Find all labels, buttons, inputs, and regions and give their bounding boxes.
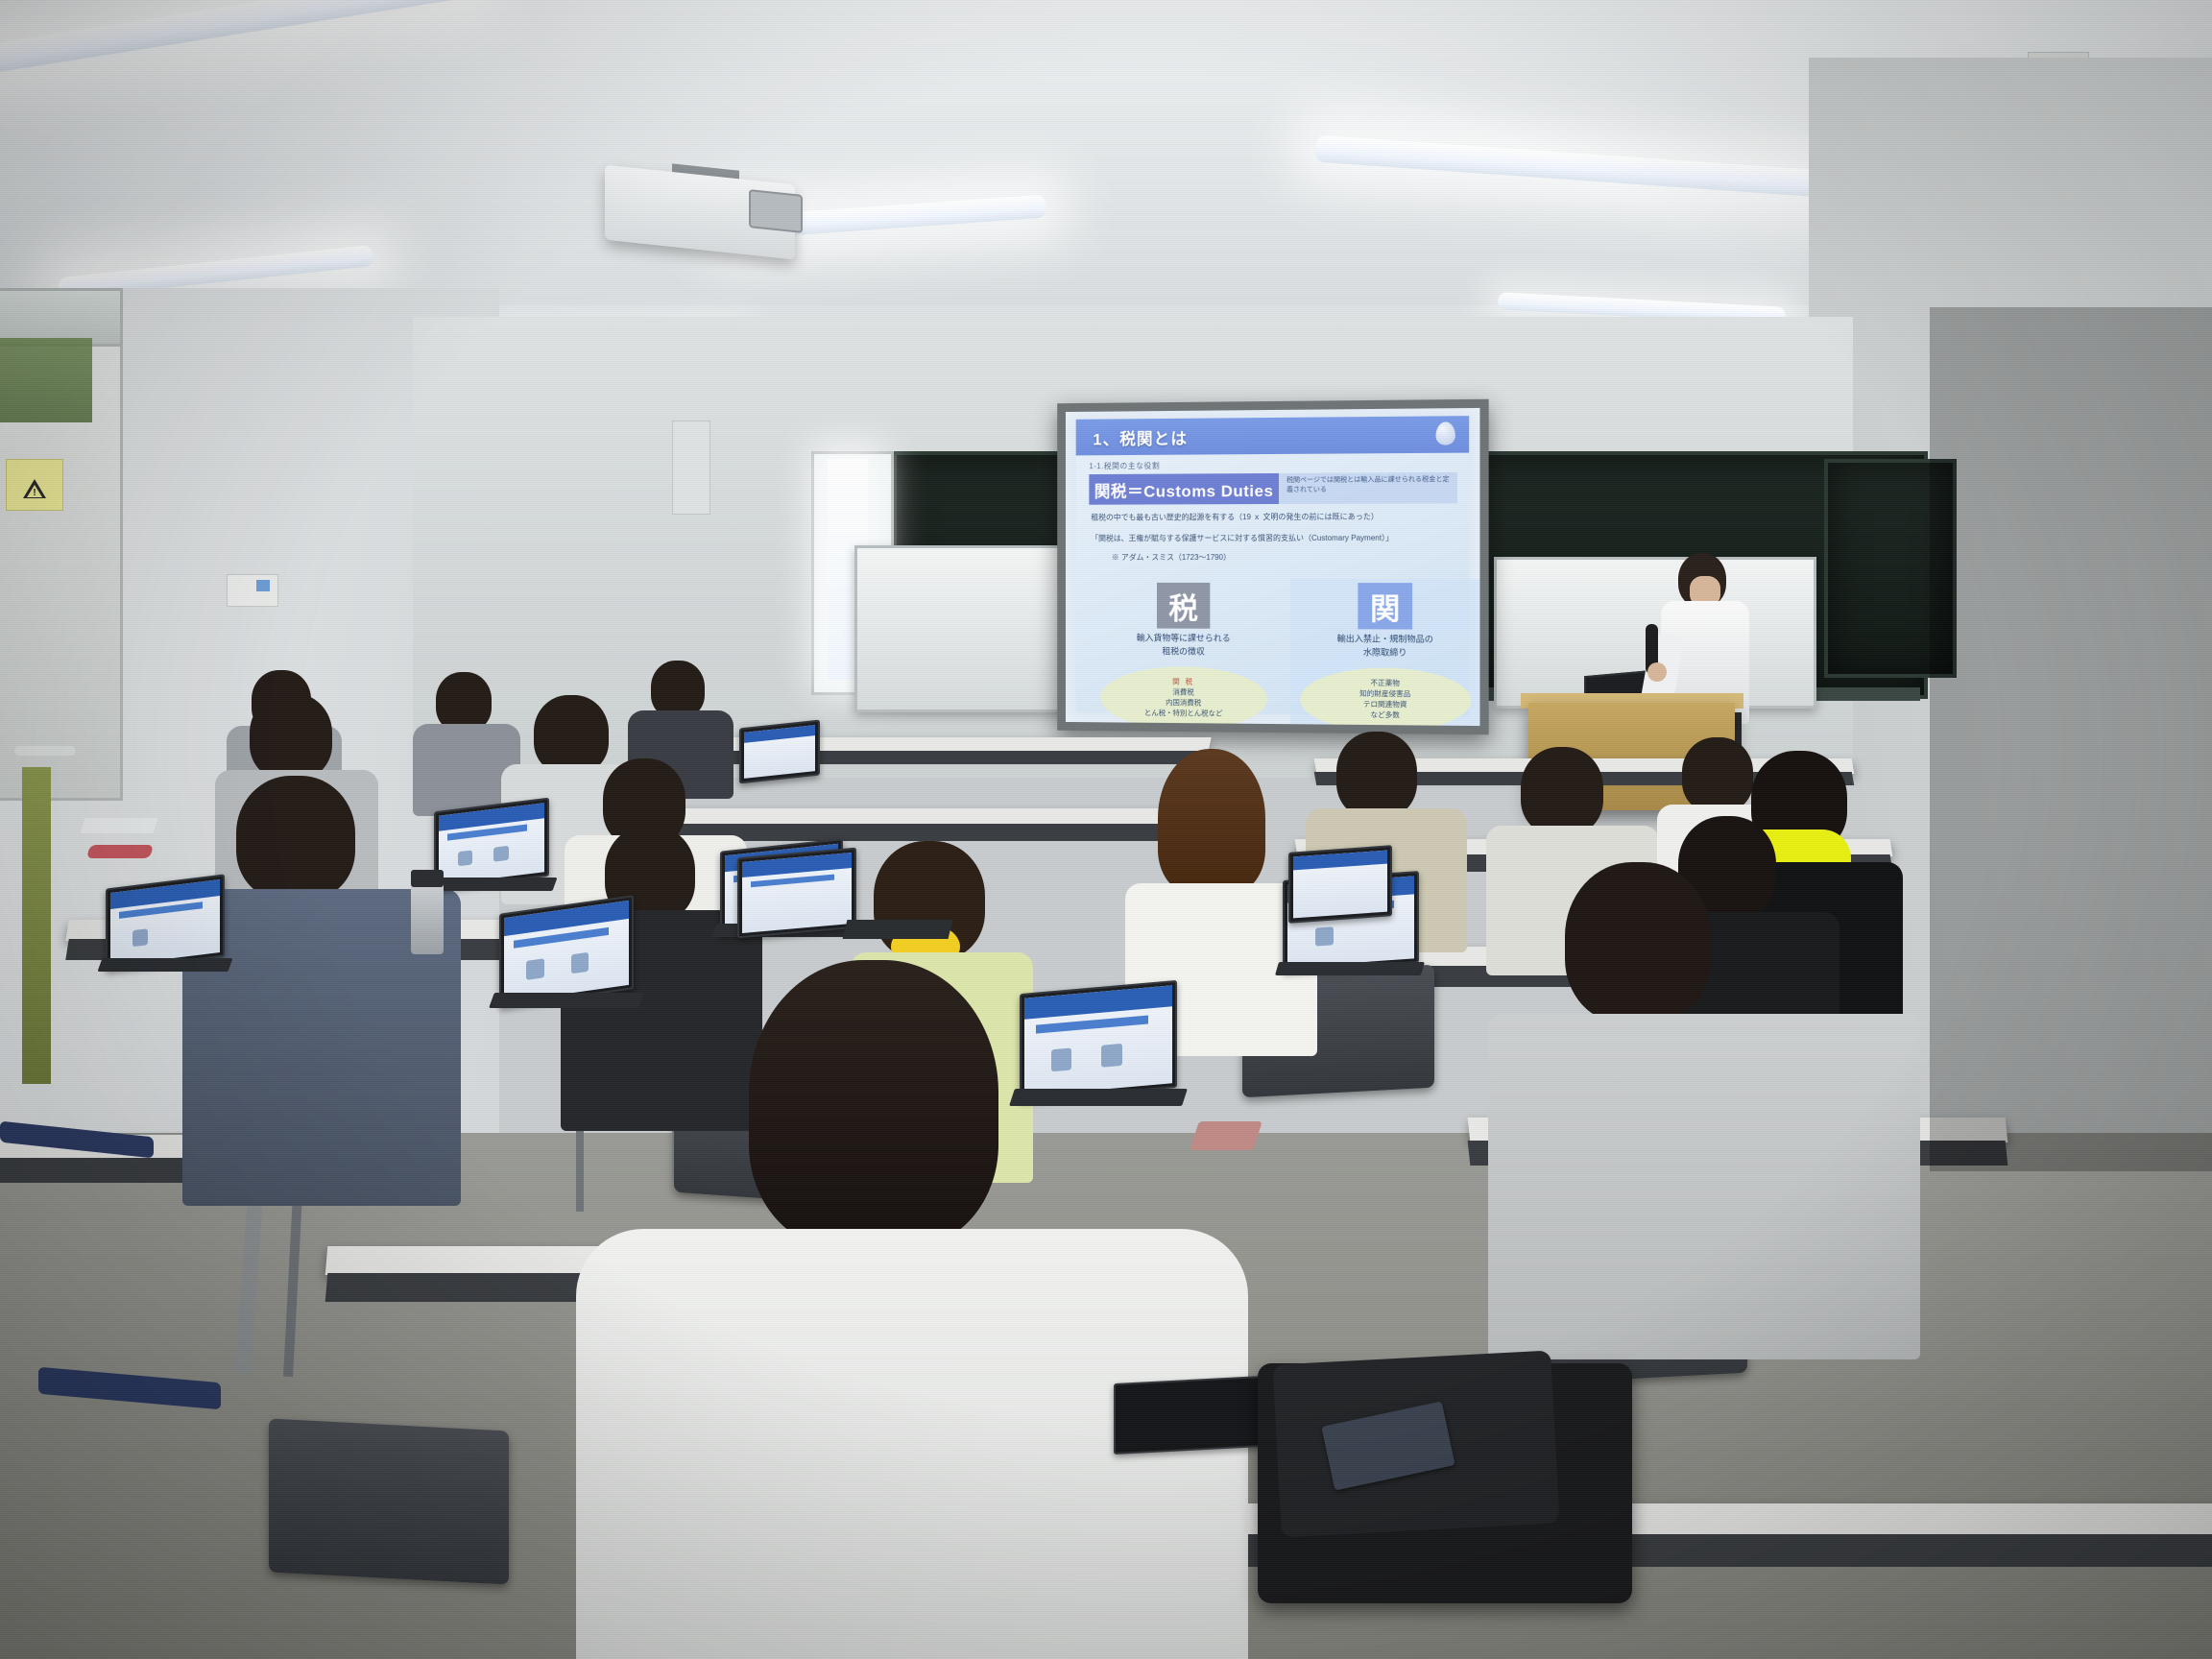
student-head <box>236 776 355 901</box>
student-head <box>534 695 609 774</box>
student-head <box>1682 737 1753 812</box>
laptop-base <box>1275 962 1425 975</box>
notebook-left <box>81 818 158 833</box>
laptop-screen <box>439 803 544 885</box>
student-head <box>250 693 332 780</box>
barrier-item-0: 不正薬物 <box>1370 679 1399 689</box>
slide-body-line-1: 租税の中でも最も古い歴史的起源を有する（19 ｘ 文明の発生の前には既にあった） <box>1091 511 1457 522</box>
laptop-screen <box>742 853 852 933</box>
tax-item-1: 消費税 <box>1172 687 1193 698</box>
water-bottle <box>411 879 444 954</box>
bottle-cap <box>411 870 444 887</box>
column-barrier-description: 輸出入禁止・規制物品の 水際取締り <box>1292 633 1479 660</box>
slide-body-line-2: 「関税は、王権が賦与する保護サービスに対する慣習的支払い（Customary P… <box>1091 533 1457 544</box>
presenter-hand <box>1647 662 1667 682</box>
laptop-lid <box>1020 980 1177 1101</box>
chair-4[interactable] <box>269 1418 509 1584</box>
red-item <box>86 845 154 858</box>
screen-header-bar <box>744 725 815 742</box>
warning-sign: ! <box>6 459 63 511</box>
laptop-lid <box>737 848 856 939</box>
laptop-base <box>489 993 644 1008</box>
laptop-base <box>1009 1089 1188 1106</box>
door-gap <box>22 767 51 1084</box>
shadow-right-wall <box>1930 307 2212 1171</box>
student-head <box>749 960 998 1248</box>
projector-lens-icon <box>749 189 803 233</box>
student-head <box>1336 732 1417 818</box>
switch-indicator-icon <box>256 580 270 591</box>
screen-icon-2 <box>571 952 589 974</box>
door-handle[interactable] <box>14 746 76 756</box>
screen-icon-1 <box>132 928 148 947</box>
student-head <box>1158 749 1265 893</box>
notebook-center <box>843 920 953 939</box>
slide-content: 1、税関とは 1-1.税関の主な役割 関税＝Customs Duties 税関ペ… <box>1076 416 1469 716</box>
wall-speaker <box>672 421 710 515</box>
column-tax-description: 輸入貨物等に課せられる 租税の徴収 <box>1093 632 1275 659</box>
kanji-chip-barrier: 関 <box>1358 583 1412 629</box>
column-barrier-ellipse: 不正薬物 知的財産侵害品 テロ関連物資 など多数 <box>1300 667 1471 726</box>
screen-icon-1 <box>526 959 543 980</box>
screen-header-bar <box>1024 985 1172 1020</box>
slide-surface: 1、税関とは 1-1.税関の主な役割 関税＝Customs Duties 税関ペ… <box>1066 408 1479 726</box>
projection-screen: 1、税関とは 1-1.税関の主な役割 関税＝Customs Duties 税関ペ… <box>1057 399 1488 735</box>
slide-subtitle: 1-1.税関の主な役割 <box>1089 461 1160 471</box>
laptop-lid <box>106 874 225 971</box>
screen-icon-1 <box>1051 1048 1072 1071</box>
laptop-screen <box>744 725 815 779</box>
screen-subbar <box>751 874 834 887</box>
barrier-item-1: 知的財産侵害品 <box>1359 689 1410 700</box>
lecture-hall-photo: ! 1、税関とは 1-1.税関の主な役割 関税＝Customs Duties 税… <box>0 0 2212 1659</box>
tax-item-3: とん税・特別とん税など <box>1144 709 1223 720</box>
screen-header-bar <box>504 901 629 937</box>
tax-item-2: 内国消費税 <box>1166 698 1201 709</box>
laptop-lid <box>1288 845 1392 924</box>
headline-text: 関税＝Customs Duties <box>1094 476 1274 501</box>
screen-icon-1 <box>458 850 472 867</box>
student-head <box>1565 862 1711 1023</box>
student-head <box>1521 747 1603 835</box>
screen-subbar <box>1036 1015 1148 1033</box>
laptop-screen <box>1293 851 1387 919</box>
screen-icon-2 <box>1101 1044 1122 1067</box>
laptop-lid <box>739 720 820 784</box>
slide-title: 1、税関とは <box>1093 425 1188 450</box>
laptop-base <box>425 878 557 891</box>
slide-column-tax: 税 輸入貨物等に課せられる 租税の徴収 関 税 消費税 内国消費税 とん税・特別… <box>1091 579 1277 726</box>
kanji-chip-tax: 税 <box>1157 583 1210 629</box>
screen-header-bar <box>742 853 852 878</box>
headline-box: 関税＝Customs Duties <box>1089 473 1279 505</box>
light-switch-plate[interactable] <box>227 574 278 607</box>
headline-row: 関税＝Customs Duties 税関ページでは関税とは輸入品に課せられる税金… <box>1089 472 1457 505</box>
laptop-lid <box>499 895 634 1008</box>
laptop-screen <box>1024 985 1172 1095</box>
tax-item-0: 関 税 <box>1172 678 1194 688</box>
slide-column-barrier: 関 輸出入禁止・規制物品の 水際取締り 不正薬物 知的財産侵害品 テロ関連物資 … <box>1290 579 1479 726</box>
barrier-item-2: テロ関連物資 <box>1363 700 1407 710</box>
laptop-screen <box>504 901 629 1002</box>
pink-smartphone[interactable] <box>1190 1121 1262 1150</box>
column-tax-ellipse: 関 税 消費税 内国消費税 とん税・特別とん税など <box>1100 666 1267 726</box>
student-head <box>436 672 492 732</box>
student-torso <box>1488 1014 1920 1359</box>
glass-partition <box>0 338 92 422</box>
slide-logo-icon <box>1435 421 1455 445</box>
headline-note: 税関ページでは関税とは輸入品に課せられる税金と定義されている <box>1286 475 1454 495</box>
laptop-screen <box>110 879 220 966</box>
screen-header-bar <box>1293 851 1387 871</box>
barrier-item-3: など多数 <box>1370 710 1399 721</box>
slide-body-line-3: ※ アダム・スミス（1723～1790） <box>1091 552 1457 563</box>
screen-icon-1 <box>1315 927 1333 947</box>
laptop-lid <box>434 798 549 891</box>
student-head <box>651 661 705 718</box>
laptop-base <box>97 958 232 972</box>
screen-icon-2 <box>493 845 508 862</box>
